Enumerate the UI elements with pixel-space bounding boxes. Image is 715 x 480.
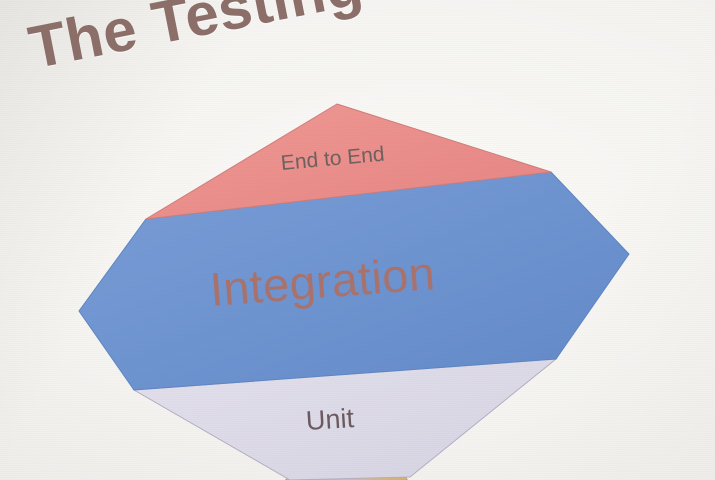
slide-photo: The Testing Trophy End to End Integratio… xyxy=(0,0,715,480)
tier-shape-integration xyxy=(79,172,629,390)
testing-trophy-diagram xyxy=(0,0,715,480)
